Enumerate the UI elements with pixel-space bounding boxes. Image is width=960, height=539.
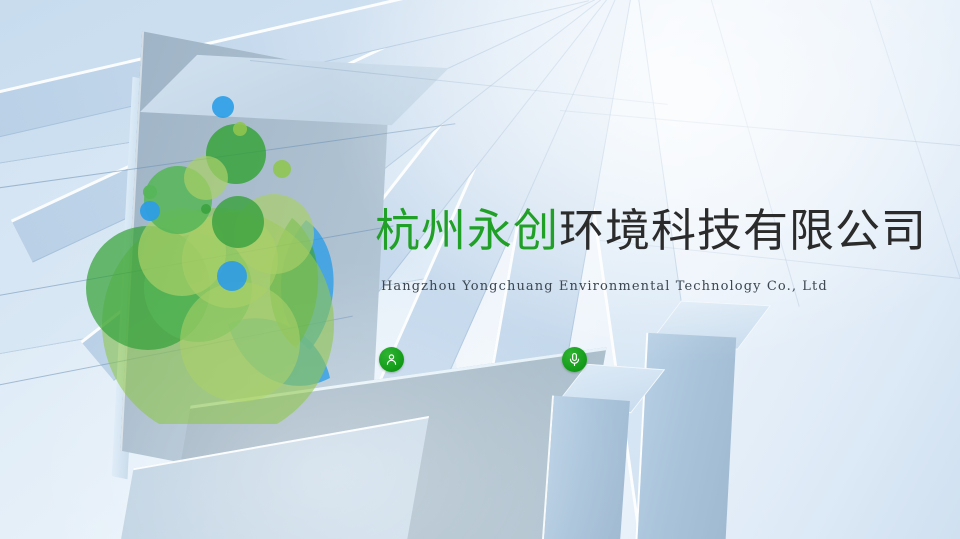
column-short-front-face [540, 396, 630, 539]
page-title-rest: 环境科技有限公司 [559, 204, 927, 257]
column-tall-front-face [636, 333, 736, 539]
user-icon [384, 352, 399, 367]
company-logo [78, 92, 350, 424]
ceiling-seam-7 [700, 0, 800, 307]
page-title-highlight: 杭州永创 [375, 204, 559, 257]
column-tall [634, 333, 736, 539]
presentation-cover-slide: 杭州永创环境科技有限公司 Hangzhou Yongchuang Environ… [0, 0, 960, 539]
page-title: 杭州永创环境科技有限公司 [375, 206, 927, 256]
page-subtitle: Hangzhou Yongchuang Environmental Techno… [381, 279, 828, 294]
microphone-icon [567, 352, 582, 367]
mic-badge[interactable] [562, 347, 587, 372]
column-short [538, 396, 630, 539]
user-badge[interactable] [379, 347, 404, 372]
